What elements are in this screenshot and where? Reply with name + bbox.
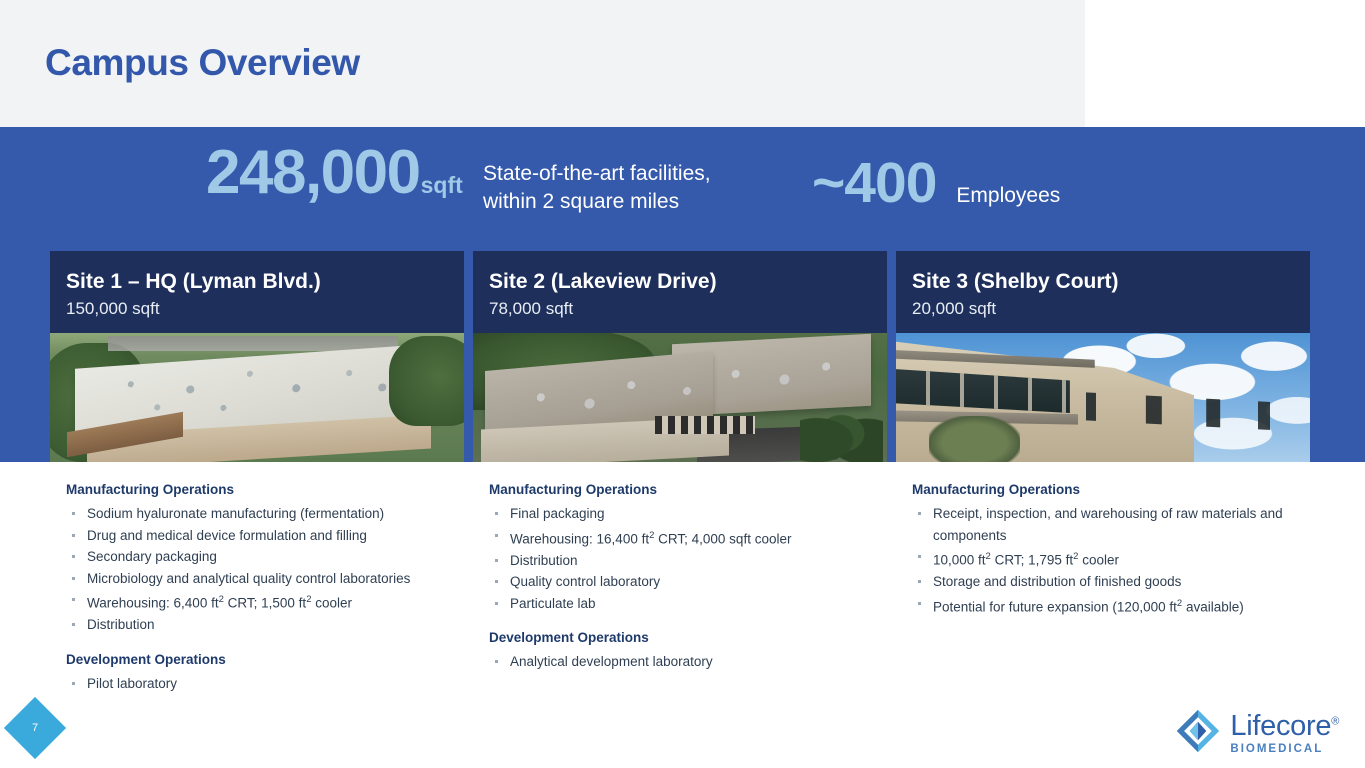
list-item: Storage and distribution of finished goo…: [912, 571, 1312, 593]
site-card-1-title: Site 1 – HQ (Lyman Blvd.): [66, 269, 464, 295]
list-item: Warehousing: 6,400 ft2 CRT; 1,500 ft2 co…: [66, 589, 470, 614]
list-item: Quality control laboratory: [489, 571, 893, 593]
aerial-photo-site-1-image: [50, 333, 464, 462]
site-card-3-title: Site 3 (Shelby Court): [912, 269, 1310, 295]
site-cards: Site 1 – HQ (Lyman Blvd.) 150,000 sqft: [50, 251, 1310, 462]
stats-row: 248,000 sqft State-of-the-art facilities…: [0, 127, 1365, 245]
page-number-label: 7: [13, 706, 57, 750]
site-2-details: Manufacturing Operations Final packaging…: [489, 480, 893, 673]
list-item: Potential for future expansion (120,000 …: [912, 593, 1312, 618]
list-item: 10,000 ft2 CRT; 1,795 ft2 cooler: [912, 546, 1312, 571]
stat-employees: ~400 Employees: [812, 155, 1060, 212]
list-item: Particulate lab: [489, 593, 893, 615]
site-card-3-size: 20,000 sqft: [912, 297, 1310, 321]
diamond-logo-icon: [1175, 708, 1221, 754]
site-3-manufacturing-list: Receipt, inspection, and warehousing of …: [912, 503, 1312, 618]
site-3-manufacturing-heading: Manufacturing Operations: [912, 480, 1312, 500]
site-2-development-list: Analytical development laboratory: [489, 651, 893, 673]
stat-facilities-description: State-of-the-art facilities, within 2 sq…: [483, 160, 711, 216]
conifer-row: [800, 400, 883, 462]
list-item: Microbiology and analytical quality cont…: [66, 568, 470, 590]
site-1-manufacturing-list: Sodium hyaluronate manufacturing (fermen…: [66, 503, 470, 636]
list-item: Pilot laboratory: [66, 673, 470, 695]
list-item: Analytical development laboratory: [489, 651, 893, 673]
aerial-photo-site-2-image: [473, 333, 887, 462]
list-item: Distribution: [66, 614, 470, 636]
site-2-manufacturing-heading: Manufacturing Operations: [489, 480, 893, 500]
aerial-photo-site-2: [473, 333, 887, 462]
loading-docks: [655, 416, 754, 434]
registered-mark-icon: ®: [1331, 715, 1339, 727]
logo-subtitle: BIOMEDICAL: [1230, 742, 1339, 756]
site-card-1-header: Site 1 – HQ (Lyman Blvd.) 150,000 sqft: [50, 251, 464, 333]
tree-cluster-right: [389, 336, 464, 426]
list-item: Sodium hyaluronate manufacturing (fermen…: [66, 503, 470, 525]
site-details-columns: Manufacturing Operations Sodium hyaluron…: [0, 462, 1365, 702]
exterior-photo-site-3-image: [896, 333, 1310, 462]
list-item: Warehousing: 16,400 ft2 CRT; 4,000 sqft …: [489, 525, 893, 550]
site-1-development-list: Pilot laboratory: [66, 673, 470, 695]
list-item: Secondary packaging: [66, 546, 470, 568]
site-2-development-heading: Development Operations: [489, 628, 893, 648]
list-item: Final packaging: [489, 503, 893, 525]
site-card-2-size: 78,000 sqft: [489, 297, 887, 321]
site-card-2-header: Site 2 (Lakeview Drive) 78,000 sqft: [473, 251, 887, 333]
site-2-manufacturing-list: Final packaging Warehousing: 16,400 ft2 …: [489, 503, 893, 614]
stat-employees-value: ~400: [812, 155, 936, 212]
site-1-manufacturing-heading: Manufacturing Operations: [66, 480, 470, 500]
page-title: Campus Overview: [45, 41, 360, 85]
site-1-details: Manufacturing Operations Sodium hyaluron…: [66, 480, 470, 695]
stat-square-footage-value: 248,000: [206, 142, 420, 204]
site-3-details: Manufacturing Operations Receipt, inspec…: [912, 480, 1312, 618]
site-card-3-header: Site 3 (Shelby Court) 20,000 sqft: [896, 251, 1310, 333]
stat-employees-label: Employees: [956, 182, 1060, 210]
stat-square-footage-unit: sqft: [421, 170, 463, 204]
site-card-2: Site 2 (Lakeview Drive) 78,000 sqft: [473, 251, 887, 462]
list-item: Distribution: [489, 550, 893, 572]
site-card-1: Site 1 – HQ (Lyman Blvd.) 150,000 sqft: [50, 251, 464, 462]
exterior-photo-site-3: [896, 333, 1310, 462]
site-card-1-size: 150,000 sqft: [66, 297, 464, 321]
lifecore-logo: Lifecore® BIOMEDICAL: [1175, 706, 1339, 756]
aerial-photo-site-1: [50, 333, 464, 462]
list-item: Drug and medical device formulation and …: [66, 525, 470, 547]
slide-campus-overview: Campus Overview 248,000 sqft State-of-th…: [0, 0, 1365, 768]
site-1-development-heading: Development Operations: [66, 650, 470, 670]
stat-square-footage: 248,000 sqft: [206, 142, 463, 204]
site-card-2-title: Site 2 (Lakeview Drive): [489, 269, 887, 295]
logo-word: Lifecore®: [1230, 710, 1339, 742]
site-card-3: Site 3 (Shelby Court) 20,000 sqft: [896, 251, 1310, 462]
stats-and-sites-band: 248,000 sqft State-of-the-art facilities…: [0, 127, 1365, 462]
foreground-shrub: [929, 416, 1020, 462]
logo-wordmark: Lifecore® BIOMEDICAL: [1230, 706, 1339, 756]
list-item: Receipt, inspection, and warehousing of …: [912, 503, 1312, 546]
